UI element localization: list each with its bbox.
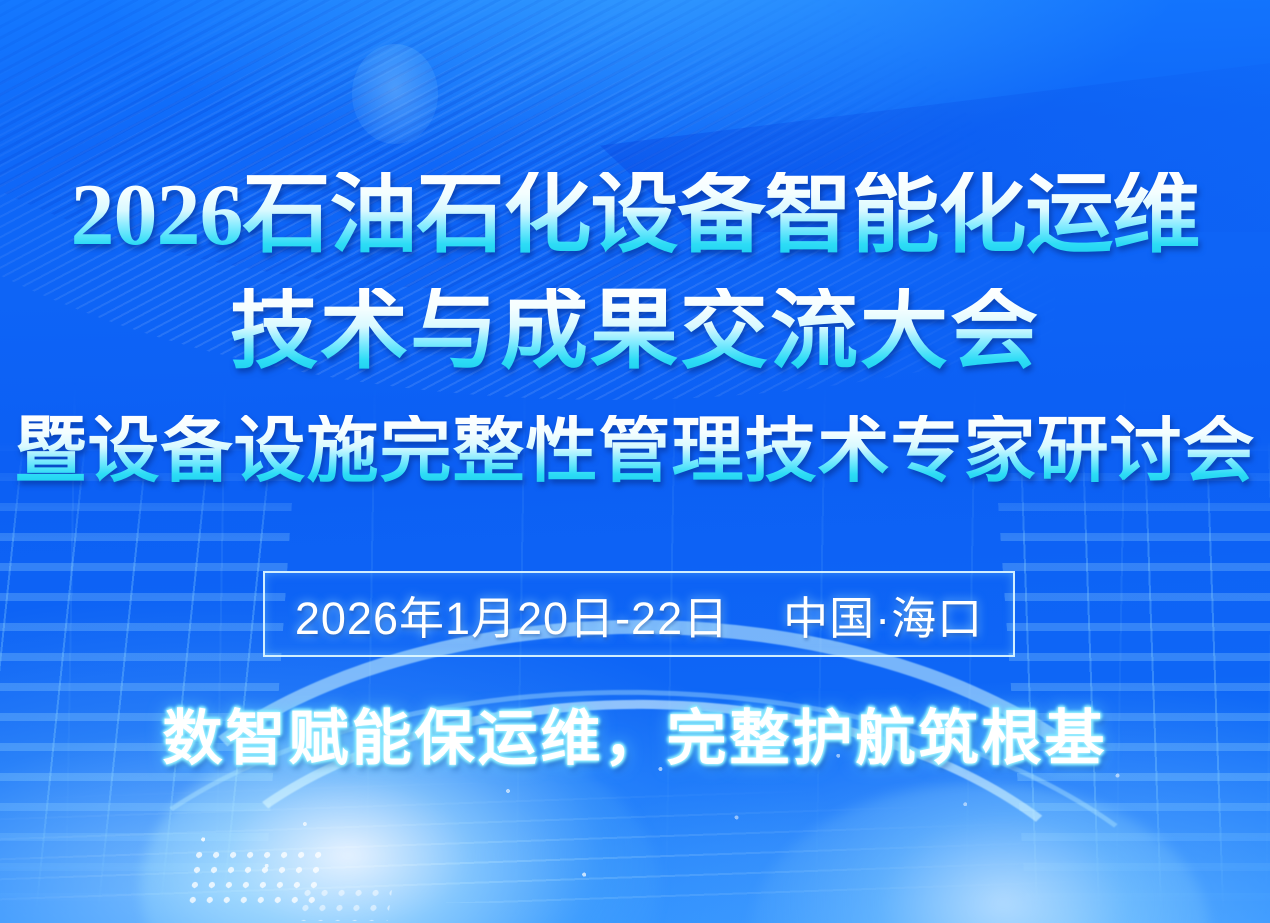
conference-slogan: 数智赋能保运维，完整护航筑根基 [0, 690, 1270, 777]
conference-poster: 2026石油石化设备智能化运维 技术与成果交流大会 暨设备设施完整性管理技术专家… [0, 0, 1270, 923]
date-location-text: 2026年1月20日-22日 中国·海口 [295, 582, 983, 647]
poster-content: 2026石油石化设备智能化运维 技术与成果交流大会 暨设备设施完整性管理技术专家… [0, 0, 1270, 923]
conference-title-line-1: 2026石油石化设备智能化运维 [0, 172, 1270, 260]
conference-subtitle-line: 暨设备设施完整性管理技术专家研讨会 [0, 415, 1270, 487]
date-location-box: 2026年1月20日-22日 中国·海口 [263, 571, 1015, 657]
conference-title-line-2: 技术与成果交流大会 [0, 288, 1270, 376]
